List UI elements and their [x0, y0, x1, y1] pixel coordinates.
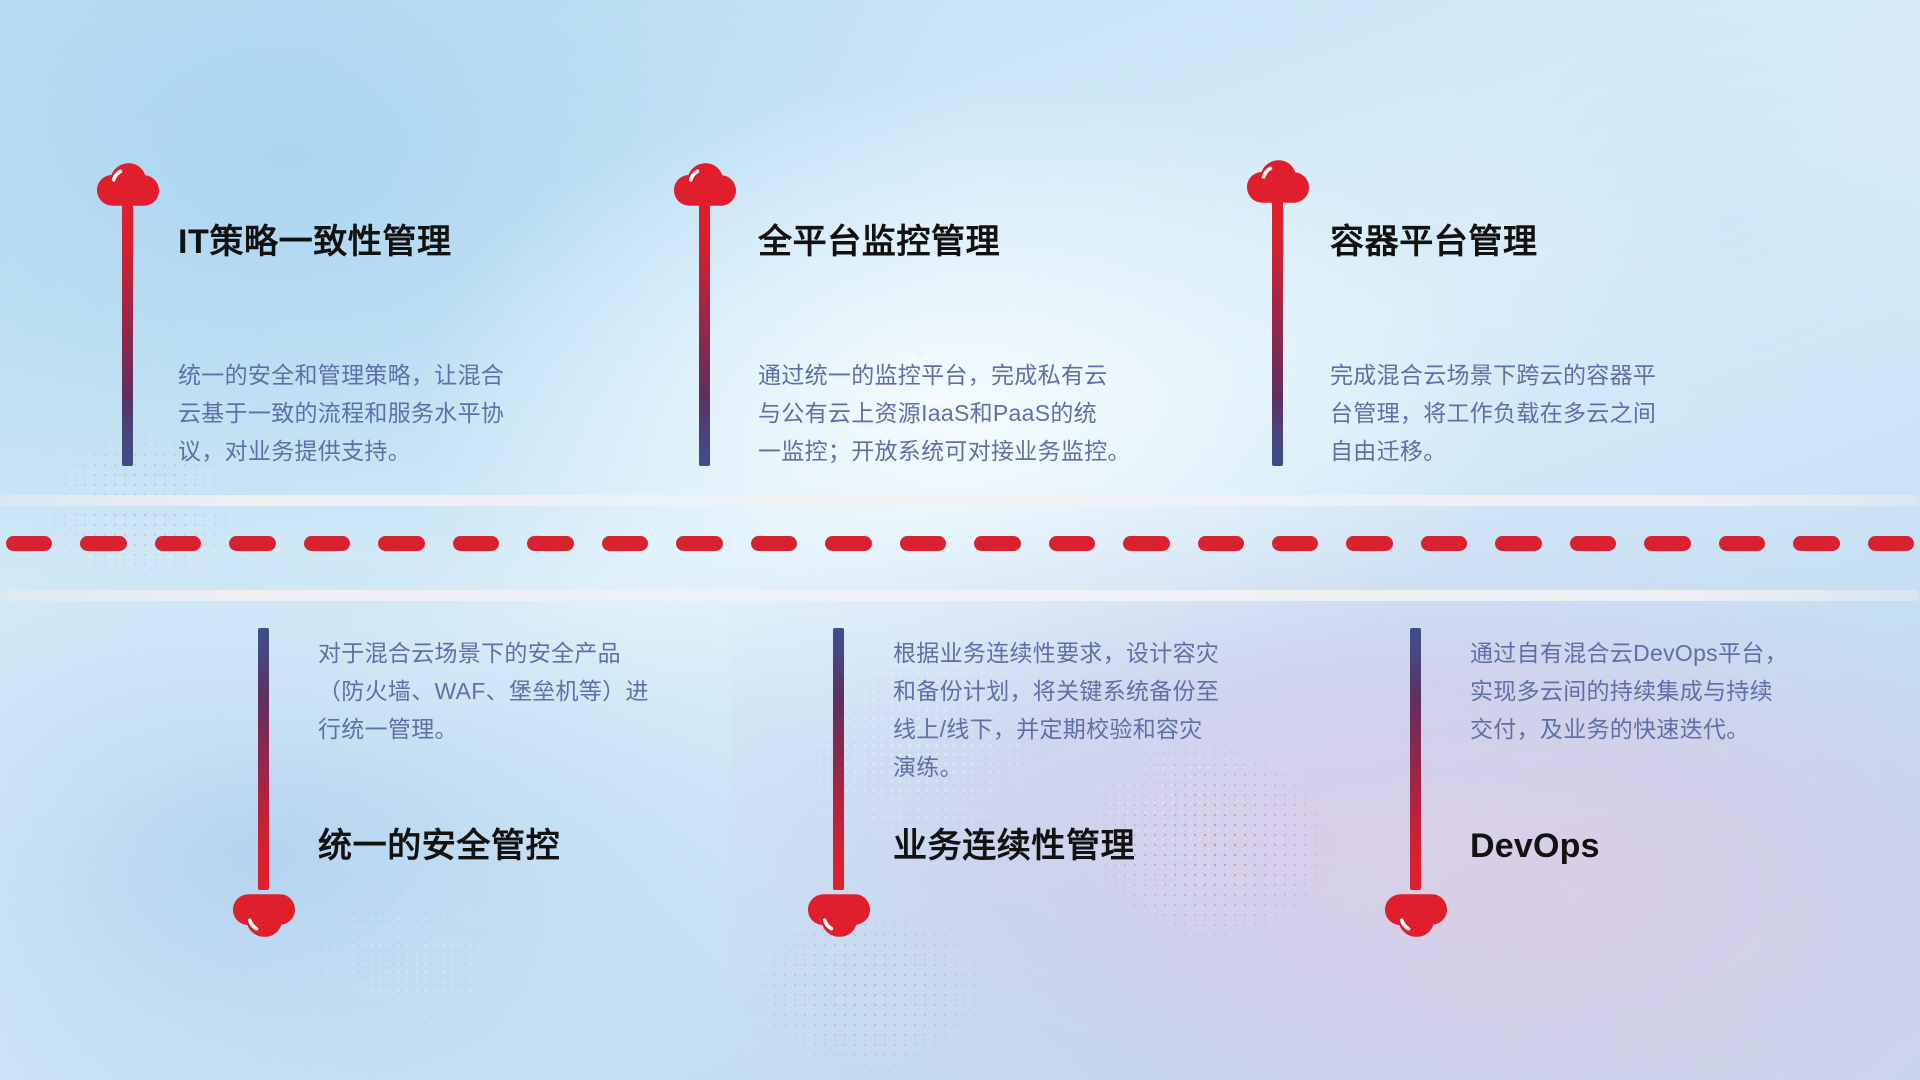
section-heading: 容器平台管理 [1330, 222, 1538, 263]
section-body: 根据业务连续性要求，设计容灾 和备份计划，将关键系统备份至 线上/线下，并定期校… [893, 634, 1323, 786]
connector-stem [122, 204, 133, 466]
section-body: 通过统一的监控平台，完成私有云 与公有云上资源IaaS和PaaS的统 一监控；开… [758, 356, 1208, 470]
connector-stem [833, 628, 844, 890]
infographic-canvas: IT策略一致性管理 统一的安全和管理策略，让混合 云基于一致的流程和服务水平协 … [0, 0, 1920, 1080]
section-heading: 全平台监控管理 [758, 222, 1000, 263]
section-body: 统一的安全和管理策略，让混合 云基于一致的流程和服务水平协 议，对业务提供支持。 [178, 356, 608, 470]
connector-stem [699, 204, 710, 466]
section-body: 对于混合云场景下的安全产品 （防火墙、WAF、堡垒机等）进 行统一管理。 [318, 634, 738, 748]
section-heading: IT策略一致性管理 [178, 222, 452, 263]
connector-stem [258, 628, 269, 890]
section-heading: DevOps [1470, 826, 1600, 867]
section-heading: 业务连续性管理 [893, 826, 1135, 867]
section-heading: 统一的安全管控 [318, 826, 560, 867]
connector-stem [1410, 628, 1421, 890]
connector-stem [1272, 201, 1283, 466]
texture-dots-c [250, 860, 580, 1070]
cloud-icon [806, 888, 872, 940]
section-body: 完成混合云场景下跨云的容器平 台管理，将工作负载在多云之间 自由迁移。 [1330, 356, 1770, 470]
cloud-icon [1383, 888, 1449, 940]
section-body: 通过自有混合云DevOps平台， 实现多云间的持续集成与持续 交付，及业务的快速… [1470, 634, 1890, 748]
cloud-icon [231, 888, 297, 940]
